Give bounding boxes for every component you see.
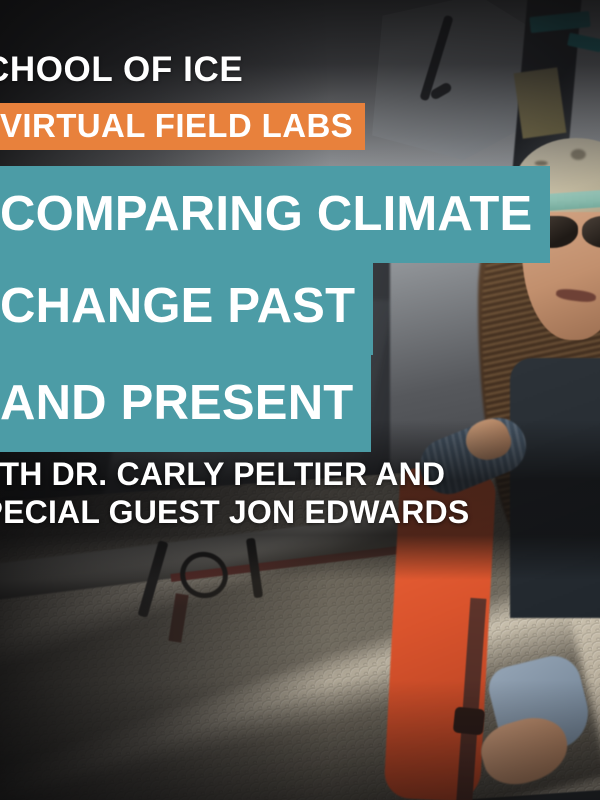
poster-text-layer: SCHOOL OF ICE VIRTUAL FIELD LABS COMPARI… — [0, 0, 600, 800]
series-badge: VIRTUAL FIELD LABS — [0, 103, 365, 150]
presenter-line-1: WITH DR. CARLY PELTIER AND — [0, 458, 445, 490]
poster: SCHOOL OF ICE VIRTUAL FIELD LABS COMPARI… — [0, 0, 600, 800]
title-line-3: AND PRESENT — [0, 355, 371, 452]
program-name: SCHOOL OF ICE — [0, 52, 243, 87]
presenter-line-2: SPECIAL GUEST JON EDWARDS — [0, 496, 469, 528]
title-line-1: COMPARING CLIMATE — [0, 166, 550, 263]
title-line-2: CHANGE PAST — [0, 258, 373, 355]
